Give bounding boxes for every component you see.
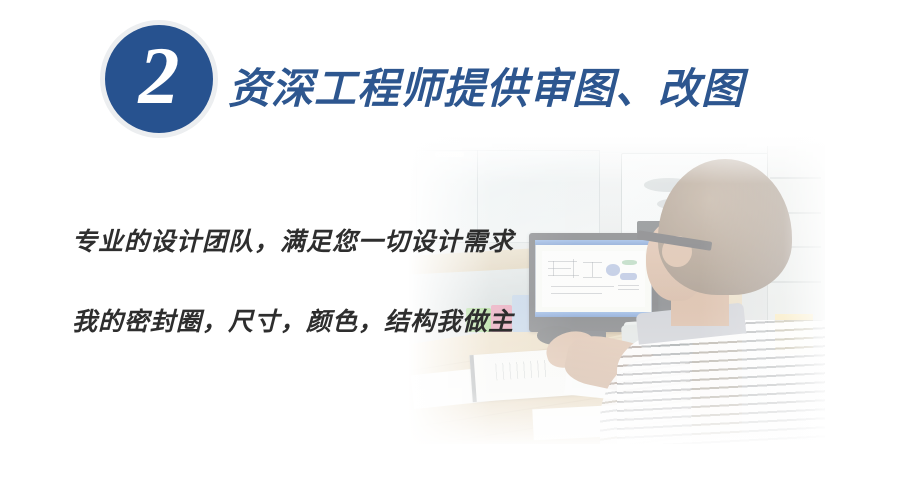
engineer-photo	[408, 134, 825, 444]
step-number-badge: 2	[100, 20, 218, 138]
ceiling-light	[435, 152, 464, 157]
page-title: 资深工程师提供审图、改图	[228, 55, 744, 116]
tagline-primary: 专业的设计团队，满足您一切设计需求	[72, 222, 514, 258]
cad-app-titlebar	[535, 240, 651, 245]
monitor-screen	[535, 240, 651, 316]
cad-drawing	[542, 251, 644, 308]
tagline-secondary: 我的密封圈，尺寸，颜色，结构我做主	[72, 302, 514, 338]
notebook-sketch	[495, 360, 549, 380]
badge-number: 2	[100, 20, 218, 138]
cad-app-statusbar	[535, 312, 651, 317]
photo-scene	[408, 134, 825, 444]
promo-banner: 2 资深工程师提供审图、改图 专业的设计团队，满足您一切设计需求 我的密封圈，尺…	[0, 0, 913, 485]
